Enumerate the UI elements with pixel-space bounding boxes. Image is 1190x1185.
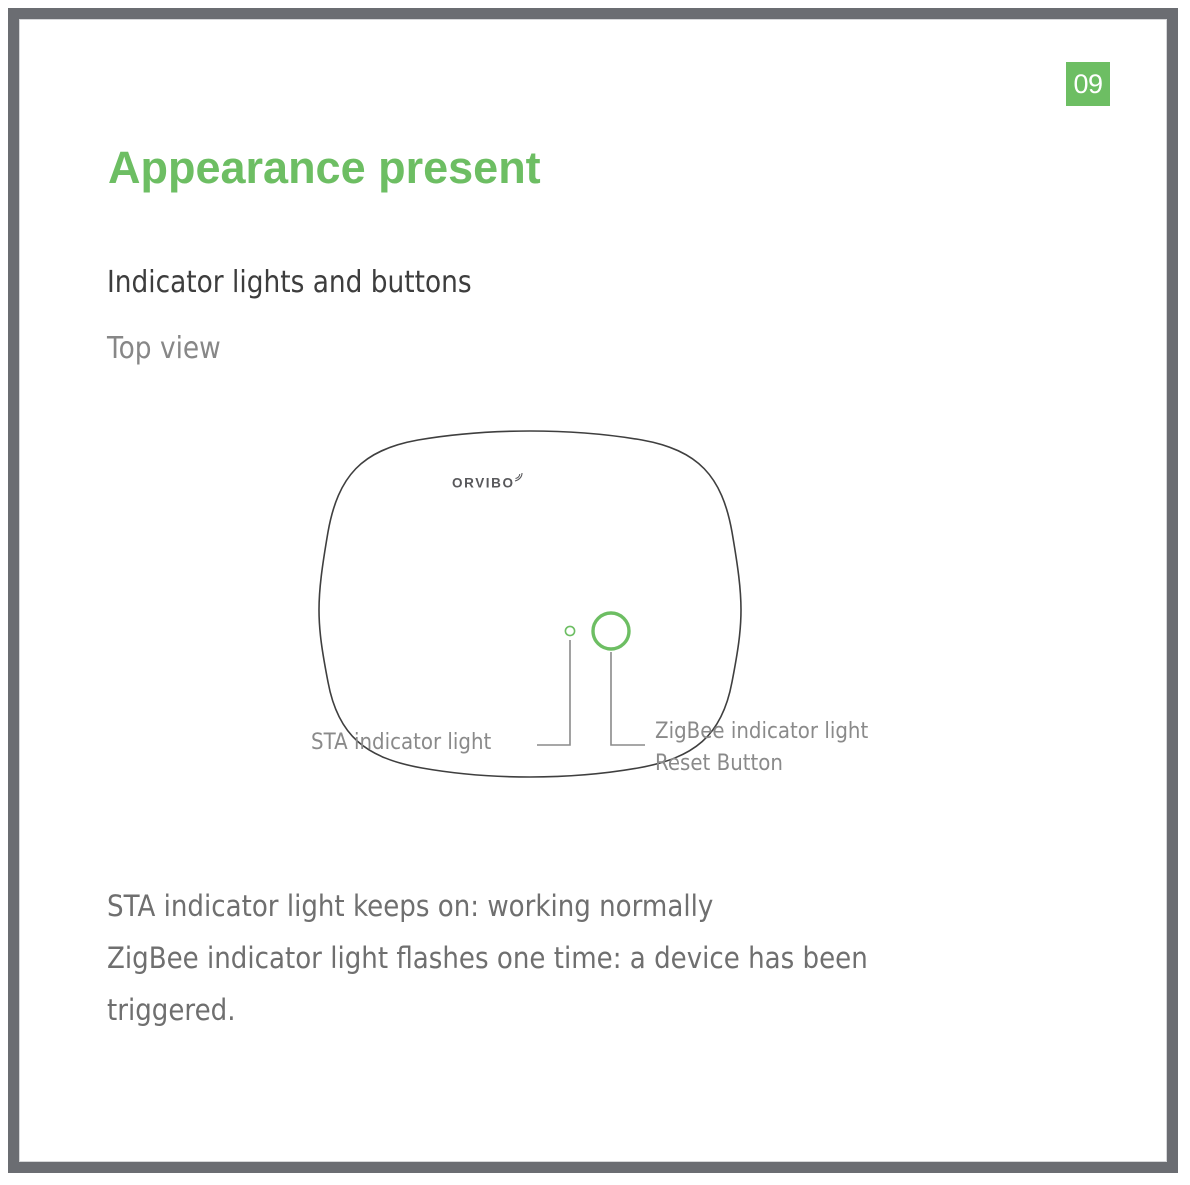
orvibo-logo-text: ORVIBO bbox=[452, 476, 515, 491]
section-subheading: Indicator lights and buttons bbox=[107, 265, 472, 300]
orvibo-logo: ORVIBO bbox=[452, 472, 524, 491]
callout-zigbee-indicator-label: ZigBee indicator light bbox=[655, 716, 868, 748]
page-title: Appearance present bbox=[108, 142, 541, 194]
page-number-badge: 09 bbox=[1066, 62, 1110, 106]
manual-page: 09 Appearance present Indicator lights a… bbox=[0, 0, 1190, 1185]
signal-wave-icon bbox=[514, 472, 524, 482]
callout-reset-button-label: Reset Button bbox=[655, 748, 868, 780]
note-zigbee-line: ZigBee indicator light flashes one time:… bbox=[107, 932, 971, 1036]
note-sta-line: STA indicator light keeps on: working no… bbox=[107, 880, 971, 932]
callout-zigbee-group: ZigBee indicator light Reset Button bbox=[655, 716, 868, 780]
indicator-notes: STA indicator light keeps on: working no… bbox=[107, 880, 971, 1036]
view-label: Top view bbox=[107, 331, 221, 366]
callout-sta-indicator-label: STA indicator light bbox=[311, 730, 491, 755]
